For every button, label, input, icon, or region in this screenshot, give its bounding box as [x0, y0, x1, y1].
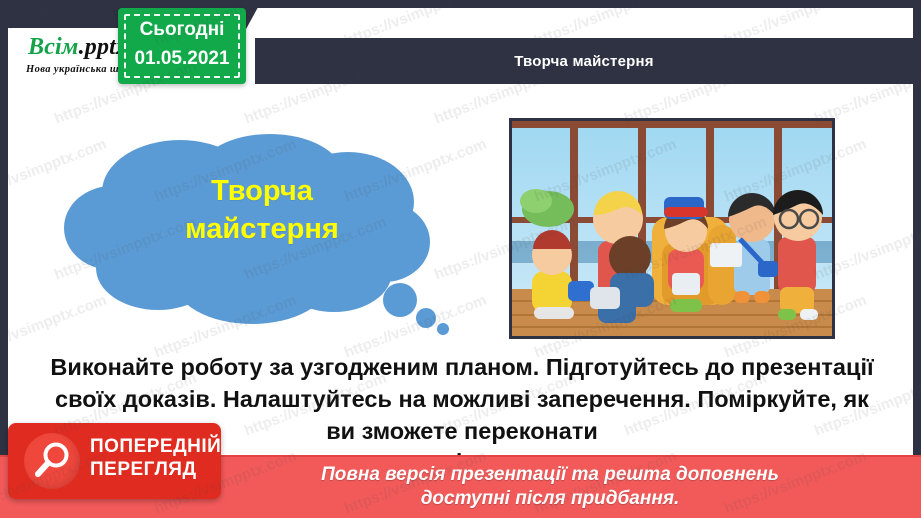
- today-date: 01.05.2021: [118, 48, 246, 70]
- illustration-photo: [509, 118, 835, 339]
- thought-cloud: Творча майстерня: [62, 132, 462, 342]
- today-date-badge: Сьогодні 01.05.2021: [118, 8, 246, 84]
- children-reading-illustration: [512, 121, 832, 336]
- thought-cloud-line2: майстерня: [62, 210, 462, 248]
- slide-header-title: Творча майстерня: [514, 53, 653, 70]
- preview-badge-text: ПОПЕРЕДНІЙ ПЕРЕГЛЯД: [90, 435, 221, 481]
- magnifier-icon: [24, 433, 80, 489]
- brand-logo-title-main: Всім: [28, 34, 79, 60]
- thought-cloud-text: Творча майстерня: [62, 172, 462, 249]
- purchase-banner-text: Повна версія презентації та решта доповн…: [200, 463, 900, 512]
- purchase-banner-line2: доступні після придбання.: [200, 487, 900, 511]
- brand-logo-title: Всім.pptx: [28, 34, 128, 61]
- today-label: Сьогодні: [118, 19, 246, 41]
- preview-badge-line1: ПОПЕРЕДНІЙ: [90, 435, 221, 458]
- presentation-slide: Всім.pptx Нова українська школа Сьогодні…: [0, 0, 921, 518]
- thought-cloud-line1: Творча: [62, 172, 462, 210]
- slide-header-bar: Творча майстерня: [255, 38, 913, 84]
- preview-badge-line2: ПЕРЕГЛЯД: [90, 458, 221, 481]
- preview-badge[interactable]: ПОПЕРЕДНІЙ ПЕРЕГЛЯД: [8, 423, 221, 499]
- purchase-banner-line1: Повна версія презентації та решта доповн…: [200, 463, 900, 487]
